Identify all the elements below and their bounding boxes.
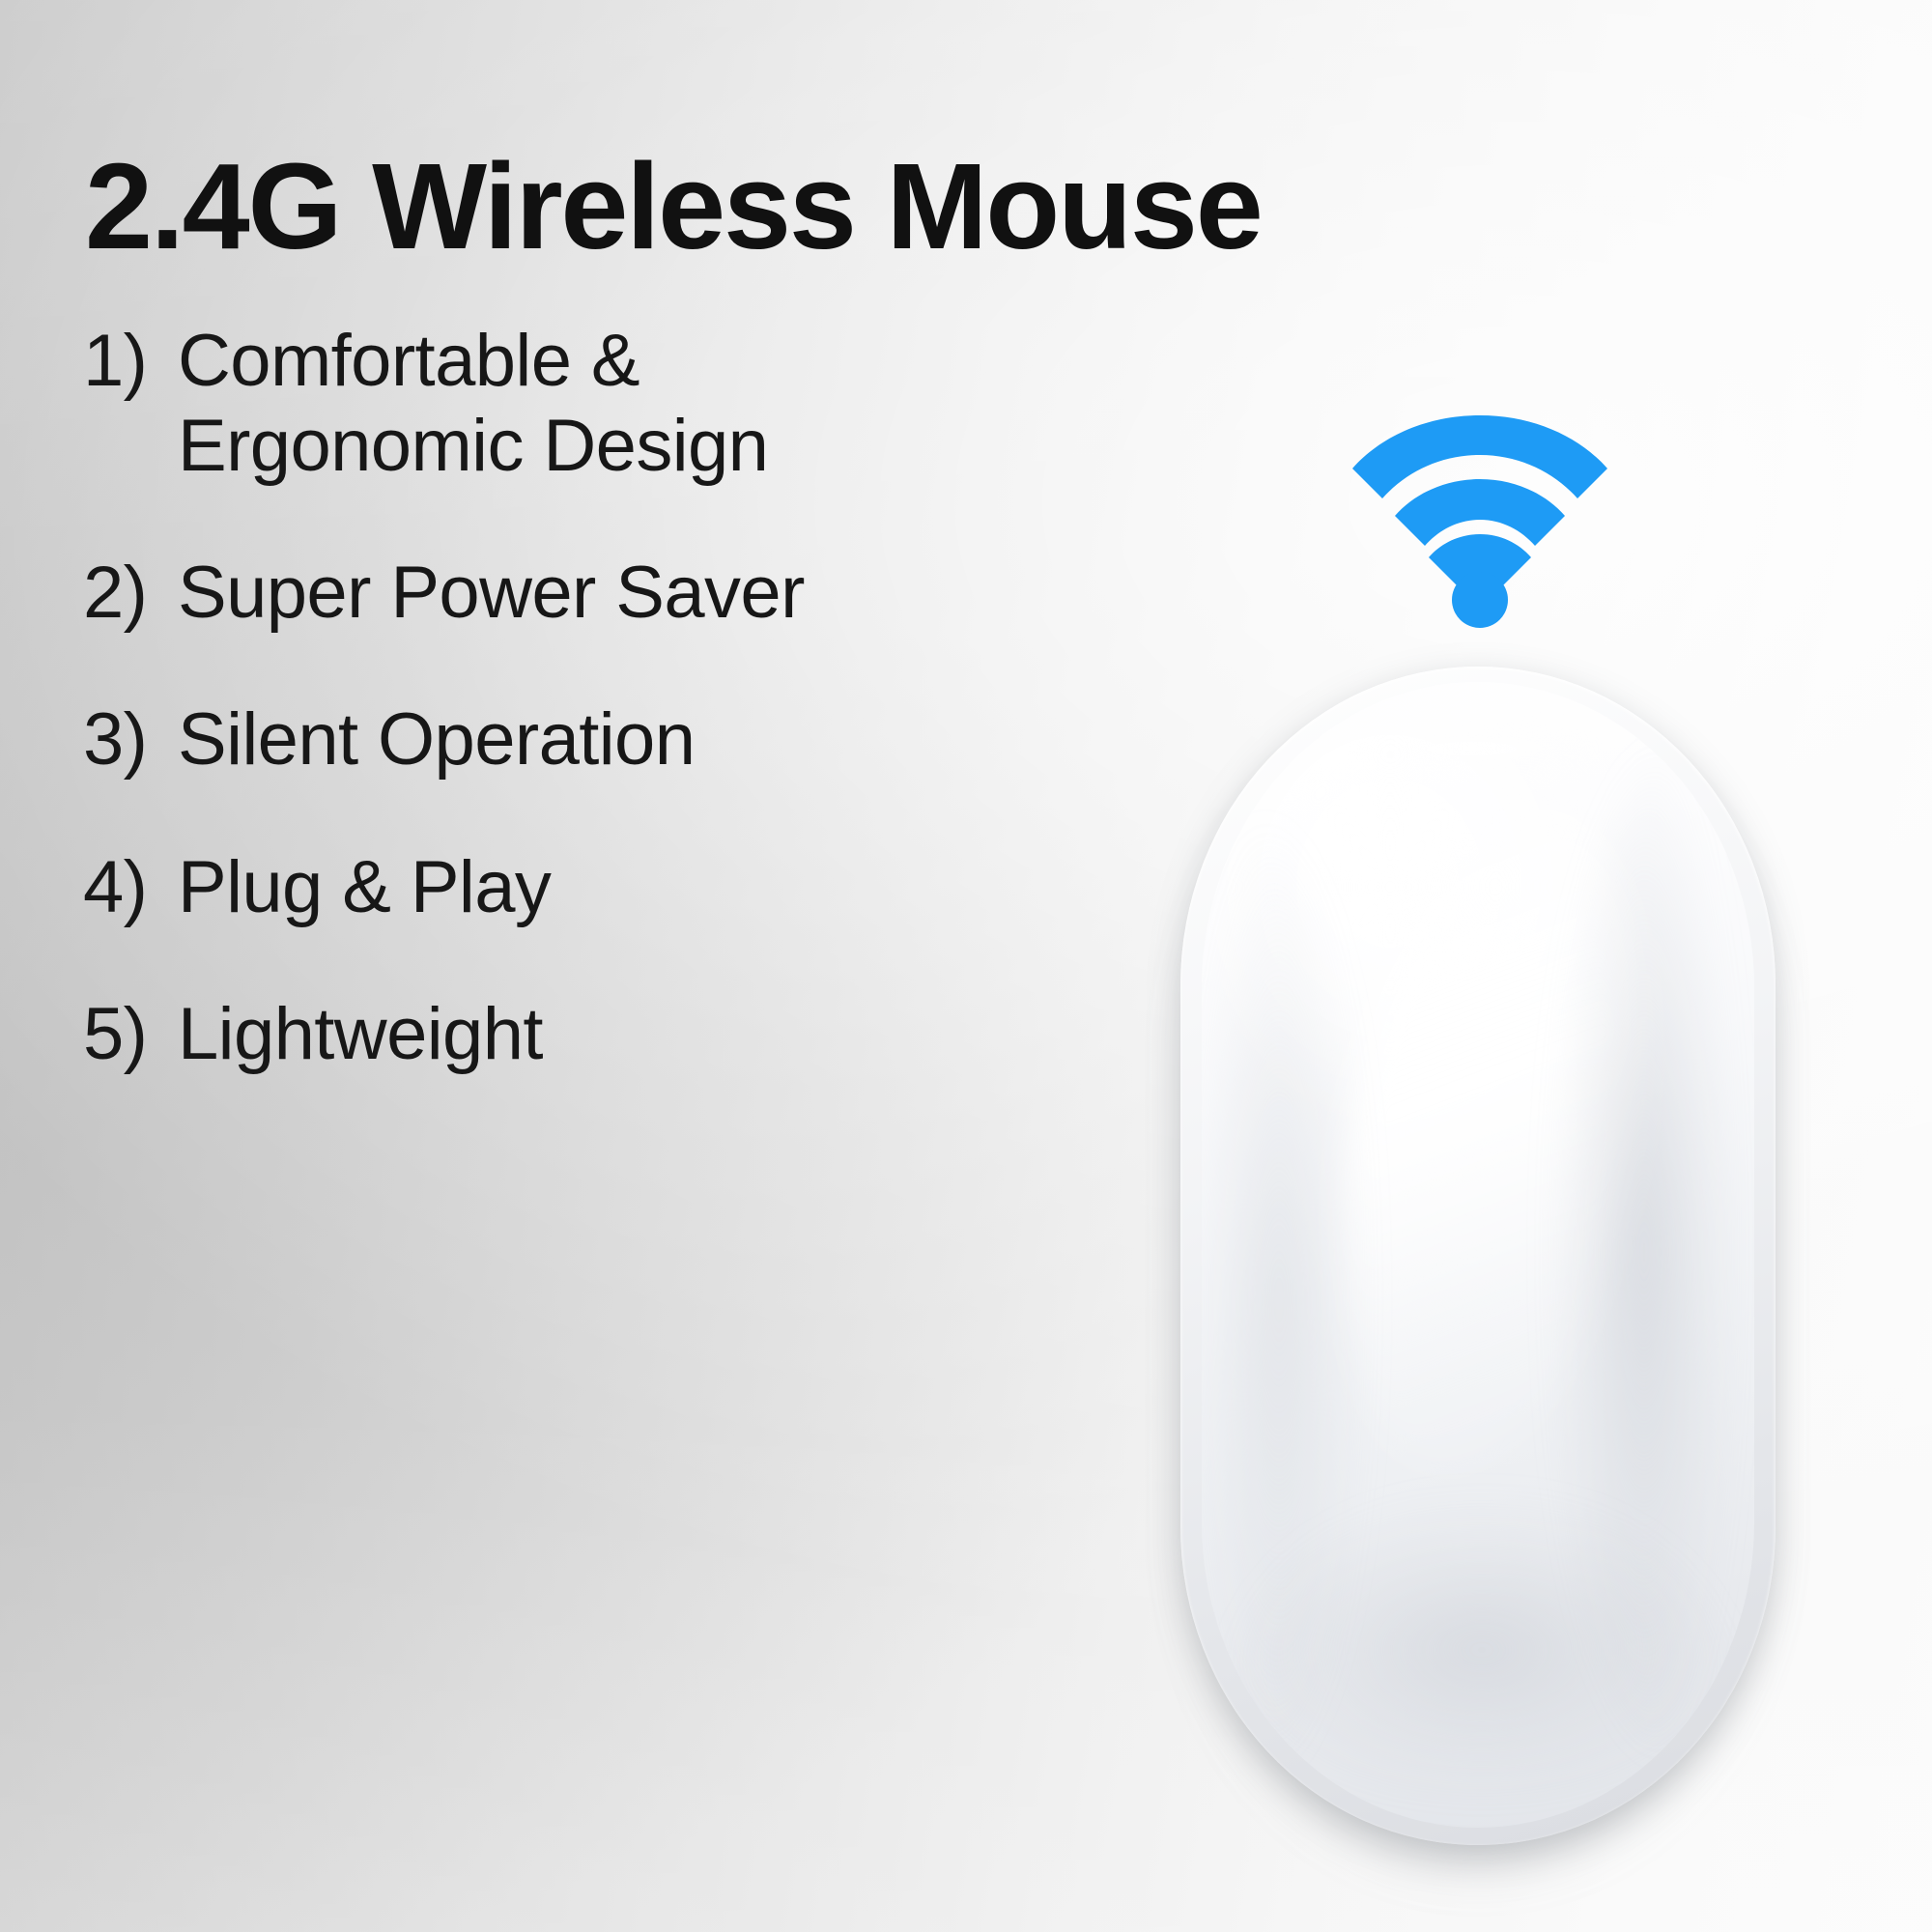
list-item: 4) Plug & Play	[83, 845, 933, 930]
list-item: 2) Super Power Saver	[83, 551, 933, 636]
mouse-outer-shell	[1180, 667, 1776, 1845]
list-item-label: Plug & Play	[178, 845, 844, 930]
list-item-marker: 5)	[83, 992, 178, 1077]
feature-list: 1) Comfortable & Ergonomic Design 2) Sup…	[83, 319, 933, 1077]
list-item: 3) Silent Operation	[83, 697, 933, 782]
mouse-seam-highlight	[1347, 732, 1598, 765]
list-item: 5) Lightweight	[83, 992, 933, 1077]
list-item-marker: 3)	[83, 697, 178, 782]
product-image-mouse	[1180, 667, 1776, 1872]
list-item-label: Super Power Saver	[178, 551, 844, 636]
list-item-label: Lightweight	[178, 992, 844, 1077]
list-item-marker: 2)	[83, 551, 178, 636]
list-item-marker: 1)	[83, 319, 178, 404]
list-item-marker: 4)	[83, 845, 178, 930]
product-feature-card: 2.4G Wireless Mouse 1) Comfortable & Erg…	[0, 0, 1932, 1932]
page-title: 2.4G Wireless Mouse	[85, 141, 1534, 272]
list-item-label: Comfortable & Ergonomic Design	[178, 319, 844, 489]
list-item-label: Silent Operation	[178, 697, 844, 782]
wifi-icon	[1352, 410, 1607, 628]
list-item: 1) Comfortable & Ergonomic Design	[83, 319, 933, 489]
mouse-top-surface	[1202, 682, 1754, 1828]
